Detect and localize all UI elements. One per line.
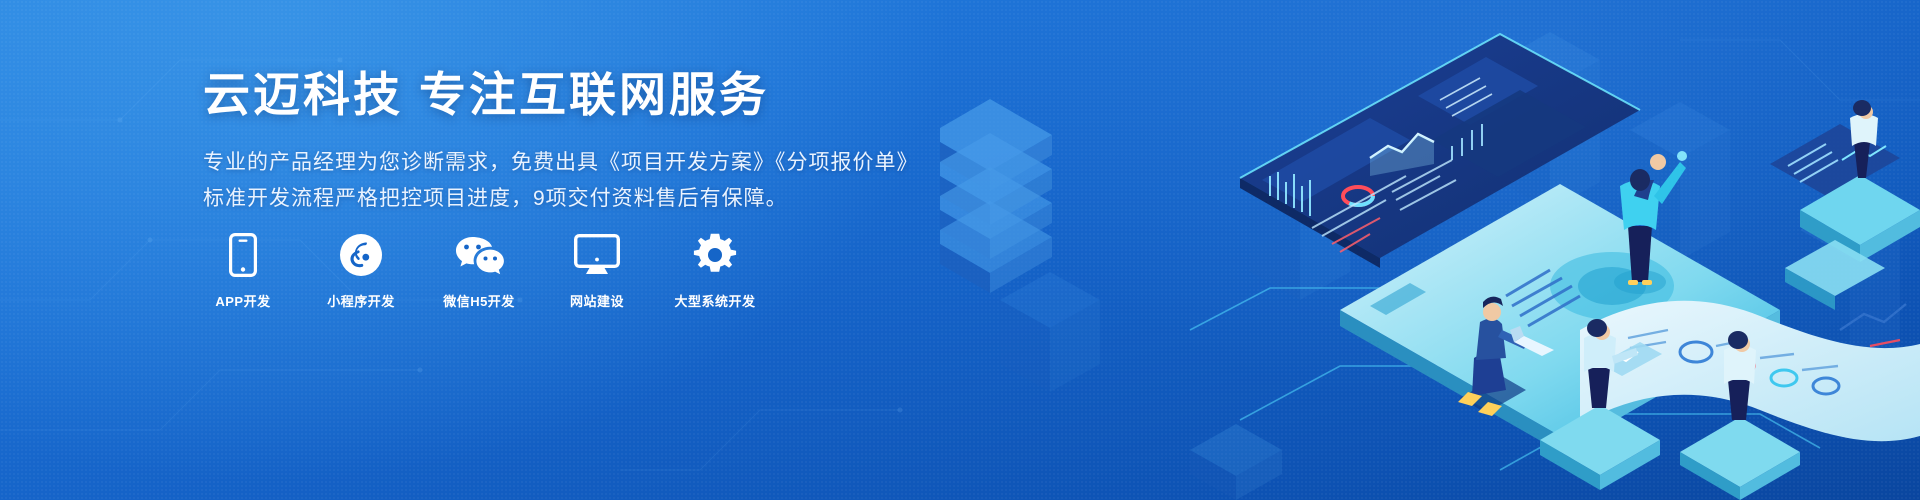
service-list: APP开发 小程序开发 — [204, 232, 754, 310]
person-standing — [1614, 151, 1687, 294]
service-label: 大型系统开发 — [675, 291, 756, 310]
subtitle-line-2: 标准开发流程严格把控项目进度，9项交付资料售后有保障。 — [203, 181, 923, 216]
stepped-platform-right — [1785, 100, 1920, 310]
hero-banner: 云迈科技 专注互联网服务 专业的产品经理为您诊断需求，免费出具《项目开发方案》《… — [0, 0, 1920, 500]
mobile-phone-icon — [229, 232, 257, 278]
service-item-large-system[interactable]: 大型系统开发 — [676, 232, 754, 310]
service-item-app[interactable]: APP开发 — [204, 232, 282, 310]
banner-subtitle: 专业的产品经理为您诊断需求，免费出具《项目开发方案》《分项报价单》 标准开发流程… — [203, 145, 923, 216]
person-front-left — [1540, 319, 1660, 490]
service-label: 小程序开发 — [327, 291, 395, 310]
dashboard-screen — [1240, 34, 1640, 268]
service-label: APP开发 — [215, 291, 270, 310]
mini-program-icon — [339, 232, 383, 278]
monitor-icon — [574, 232, 620, 278]
service-label: 微信H5开发 — [443, 291, 515, 310]
service-label: 网站建设 — [570, 291, 624, 310]
service-item-mini-program[interactable]: 小程序开发 — [322, 232, 400, 310]
gear-icon — [693, 232, 737, 278]
wechat-icon — [454, 232, 504, 278]
banner-copy: 云迈科技 专注互联网服务 专业的产品经理为您诊断需求，免费出具《项目开发方案》《… — [203, 66, 923, 216]
report-sheet — [1580, 301, 1920, 441]
floating-card — [1770, 124, 1900, 198]
page-title: 云迈科技 专注互联网服务 — [203, 66, 923, 123]
service-item-wechat-h5[interactable]: 微信H5开发 — [440, 232, 518, 310]
subtitle-line-1: 专业的产品经理为您诊断需求，免费出具《项目开发方案》《分项报价单》 — [203, 145, 923, 180]
isometric-tech-illustration — [940, 0, 1920, 500]
person-front-right — [1680, 331, 1800, 500]
tablet-platform — [1340, 184, 1780, 452]
service-item-website[interactable]: 网站建设 — [558, 232, 636, 310]
server-stack — [940, 99, 1052, 293]
person-seated-laptop — [1458, 270, 1580, 416]
